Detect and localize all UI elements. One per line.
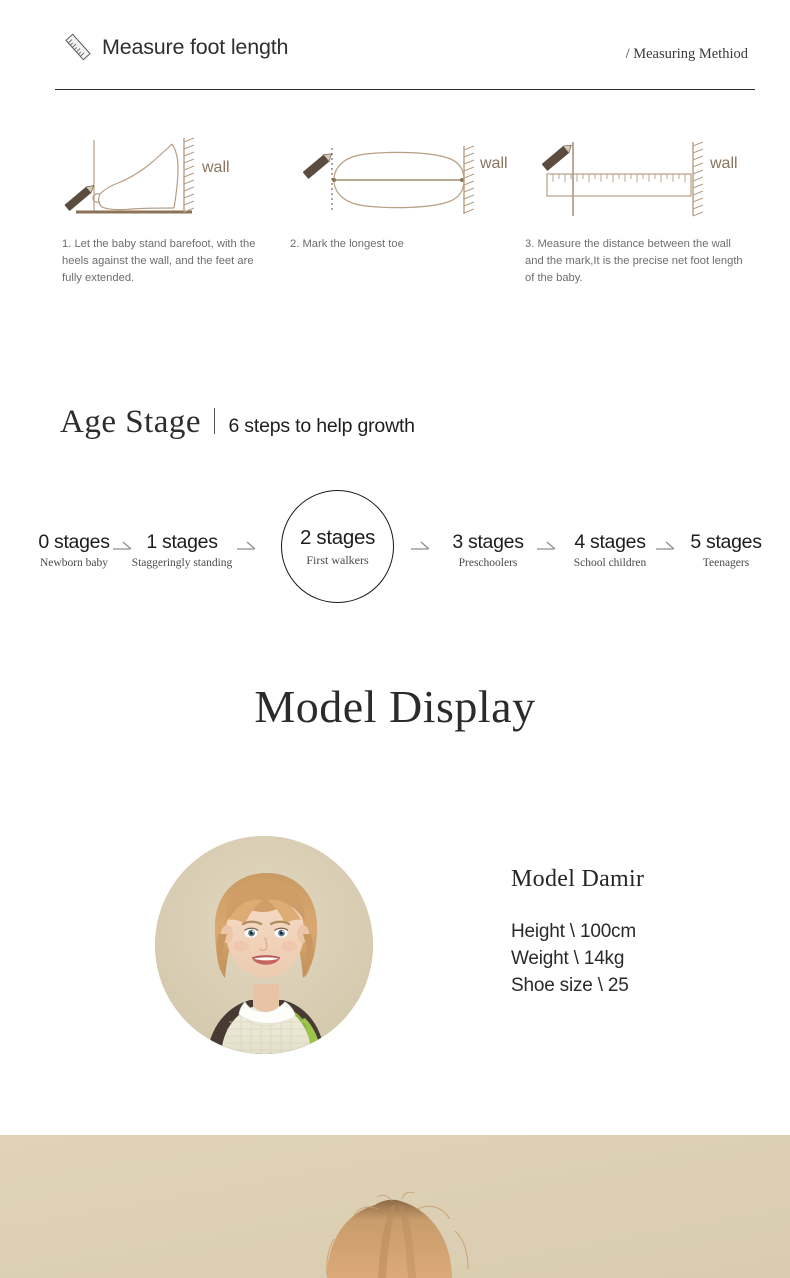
ruler-measure-diagram: wall: [525, 128, 761, 236]
stage-item-4[interactable]: 4 stages School children: [550, 530, 670, 570]
stage-label-1: 1 stages: [122, 530, 242, 554]
measure-step-3: wall 3. Measure the distance between the…: [525, 128, 761, 286]
stage-label-3: 3 stages: [428, 530, 548, 554]
model-spec-height: Height \ 100cm: [511, 918, 644, 945]
stage-desc-5: Teenagers: [666, 556, 786, 570]
model-portrait-photo: [155, 836, 373, 1054]
stage-desc-1: Staggeringly standing: [122, 556, 242, 570]
model-display-title: Model Display: [0, 680, 790, 733]
wall-label-1: wall: [201, 159, 230, 176]
stage-item-2-highlighted[interactable]: 2 stages First walkers: [281, 490, 394, 603]
foot-side-view-diagram: wall: [62, 128, 298, 236]
age-stage-heading: Age Stage 6 steps to help growth: [60, 404, 415, 441]
measure-step-1-caption: 1. Let the baby stand barefoot, with the…: [62, 236, 272, 286]
age-stage-title: Age Stage: [60, 404, 201, 441]
stage-label-4: 4 stages: [550, 530, 670, 554]
page-header: Measure foot length / Measuring Methiod: [55, 28, 755, 90]
stage-label-5: 5 stages: [666, 530, 786, 554]
age-stage-timeline: 0 stages Newborn baby 1 stages Staggerin…: [0, 490, 790, 615]
foot-top-view-diagram: wall: [290, 128, 526, 236]
bottom-banner-image: [0, 1135, 790, 1278]
model-info-block: Model Damir Height \ 100cm Weight \ 14kg…: [511, 866, 644, 999]
stage-arrow-icon: [236, 540, 258, 558]
header-left-group: Measure foot length: [63, 32, 288, 62]
stage-item-1[interactable]: 1 stages Staggeringly standing: [122, 530, 242, 570]
page-title: Measure foot length: [102, 35, 288, 60]
stage-item-5[interactable]: 5 stages Teenagers: [666, 530, 786, 570]
wall-label-3: wall: [709, 155, 738, 172]
stage-desc-0: Newborn baby: [14, 556, 134, 570]
age-stage-subtitle: 6 steps to help growth: [228, 415, 414, 438]
model-spec-weight: Weight \ 14kg: [511, 945, 644, 972]
ruler-icon: [63, 32, 93, 62]
stage-desc-2: First walkers: [306, 553, 368, 567]
measure-step-3-caption: 3. Measure the distance between the wall…: [525, 236, 750, 286]
stage-item-3[interactable]: 3 stages Preschoolers: [428, 530, 548, 570]
measure-step-2-caption: 2. Mark the longest toe: [290, 236, 490, 253]
wall-label-2: wall: [479, 155, 508, 172]
stage-desc-3: Preschoolers: [428, 556, 548, 570]
heading-divider: [214, 408, 215, 434]
model-spec-shoe-size: Shoe size \ 25: [511, 972, 644, 999]
header-subtitle: / Measuring Methiod: [626, 46, 748, 63]
measure-step-1: wall 1. Let the baby stand barefoot, wit…: [62, 128, 298, 286]
stage-desc-4: School children: [550, 556, 670, 570]
model-name: Model Damir: [511, 866, 644, 893]
stage-label-2: 2 stages: [300, 526, 375, 550]
measure-steps-section: wall 1. Let the baby stand barefoot, wit…: [0, 128, 790, 328]
measure-step-2: wall 2. Mark the longest toe: [290, 128, 526, 253]
